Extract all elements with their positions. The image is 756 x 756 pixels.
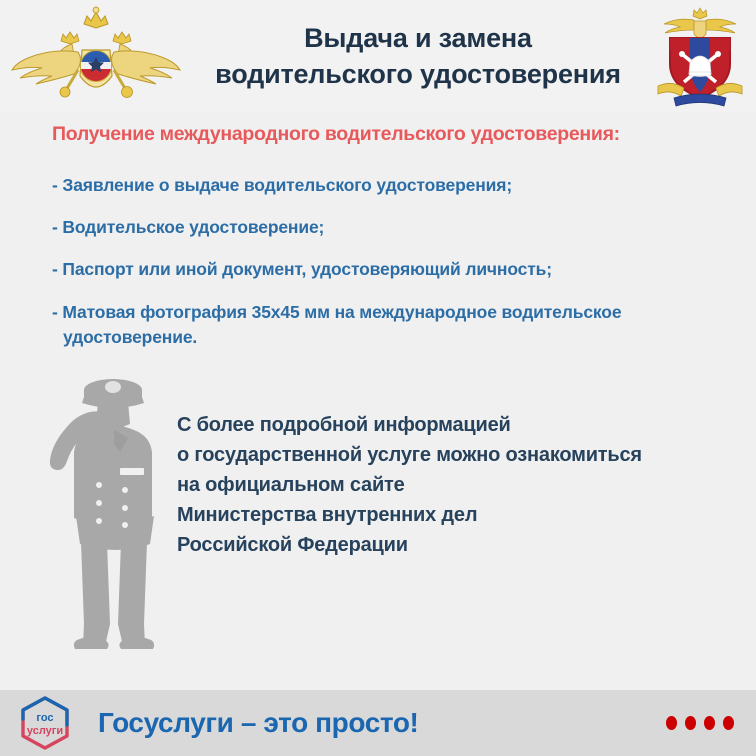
list-item: - Паспорт или иной документ, удостоверяю…	[52, 258, 712, 281]
poster-root: Выдача и замена водительского удостовере…	[0, 0, 756, 756]
gibdd-shield-icon	[652, 2, 748, 110]
more-info-text: С более подробной информацией о государс…	[177, 410, 717, 560]
requirements-list: - Заявление о выдаче водительского удост…	[52, 174, 712, 350]
dot-icon	[704, 716, 715, 730]
title-line-1: Выдача и замена	[188, 20, 648, 56]
dot-icon	[723, 716, 734, 730]
info-line: на официальном сайте	[177, 470, 717, 500]
dot-icon	[666, 716, 677, 730]
info-line: Российской Федерации	[177, 530, 717, 560]
dot-icon	[685, 716, 696, 730]
footer-slogan: Госуслуги – это просто!	[98, 707, 418, 739]
list-item: - Заявление о выдаче водительского удост…	[52, 174, 712, 197]
title-line-2: водительского удостоверения	[188, 56, 648, 92]
footer-bar: гос услуги Госуслуги – это просто!	[0, 690, 756, 756]
page-title: Выдача и замена водительского удостовере…	[184, 20, 652, 92]
info-line: о государственной услуге можно ознакомит…	[177, 440, 717, 470]
header-bar: Выдача и замена водительского удостовере…	[0, 0, 756, 112]
list-item: - Матовая фотография 35х45 мм на междуна…	[52, 300, 712, 350]
info-line: Министерства внутренних дел	[177, 500, 717, 530]
gosuslugi-logo-icon[interactable]: гос услуги	[14, 695, 76, 751]
list-item: - Водительское удостоверение;	[52, 216, 712, 239]
mvd-eagle-icon	[8, 4, 184, 108]
footer-dots	[666, 716, 734, 730]
saluting-police-officer-icon	[44, 372, 184, 660]
info-line: С более подробной информацией	[177, 410, 717, 440]
section-subtitle: Получение международного водительского у…	[52, 121, 712, 147]
logo-text-top: гос	[36, 712, 53, 724]
logo-text-bottom: услуги	[27, 725, 63, 737]
